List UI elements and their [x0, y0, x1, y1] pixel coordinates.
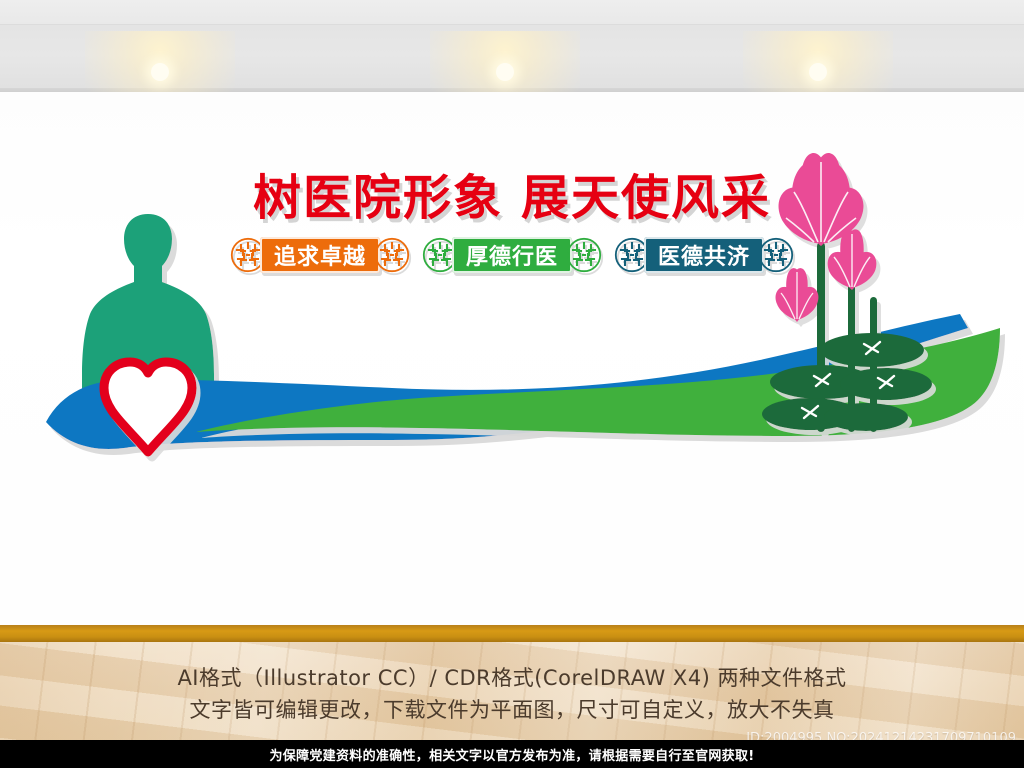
- spotlight-right: [809, 63, 827, 81]
- slogan-badge-3-label: 医德共济: [644, 237, 764, 273]
- lotus-flower-small: [776, 268, 819, 322]
- footer-line-1: AI格式（Illustrator CC）/ CDR格式(CorelDRAW X4…: [0, 662, 1024, 694]
- notice-text: 为保障党建资料的准确性，相关文字以官方发布为准，请根据需要自行至官网获取!: [269, 745, 754, 764]
- slogan-badge-3: 医德共济: [614, 235, 794, 275]
- slogan-badge-2-label: 厚德行医: [452, 237, 572, 273]
- footer-line-2: 文字皆可编辑更改，下载文件为平面图，尺寸可自定义，放大不失真: [0, 694, 1024, 726]
- ceiling-upper: [0, 0, 1024, 24]
- lotus-cluster: [762, 153, 932, 432]
- lily-pads: [762, 333, 932, 431]
- slogan-badge-2: 厚德行医: [422, 235, 602, 275]
- ceiling-light-band: [0, 24, 1024, 92]
- ornament-right-icon: [374, 237, 410, 273]
- slogan-badges: 追求卓越 厚德行医: [0, 235, 1024, 275]
- slogan-badge-1: 追求卓越: [230, 235, 410, 275]
- spotlight-center: [496, 63, 514, 81]
- ornament-right-icon: [566, 237, 602, 273]
- footer-info: AI格式（Illustrator CC）/ CDR格式(CorelDRAW X4…: [0, 662, 1024, 726]
- slogan-badge-1-label: 追求卓越: [260, 237, 380, 273]
- wall-artwork: [0, 92, 1024, 512]
- notice-bar: 为保障党建资料的准确性，相关文字以官方发布为准，请根据需要自行至官网获取!: [0, 740, 1024, 768]
- spotlight-left: [151, 63, 169, 81]
- ornament-right-icon: [758, 237, 794, 273]
- floor-baseboard: [0, 625, 1024, 642]
- spotlight-glow-right: [743, 31, 893, 92]
- scene: 树医院形象展天使风采 追求卓越: [0, 0, 1024, 768]
- spotlight-glow-center: [430, 31, 580, 92]
- spotlight-glow-left: [85, 31, 235, 92]
